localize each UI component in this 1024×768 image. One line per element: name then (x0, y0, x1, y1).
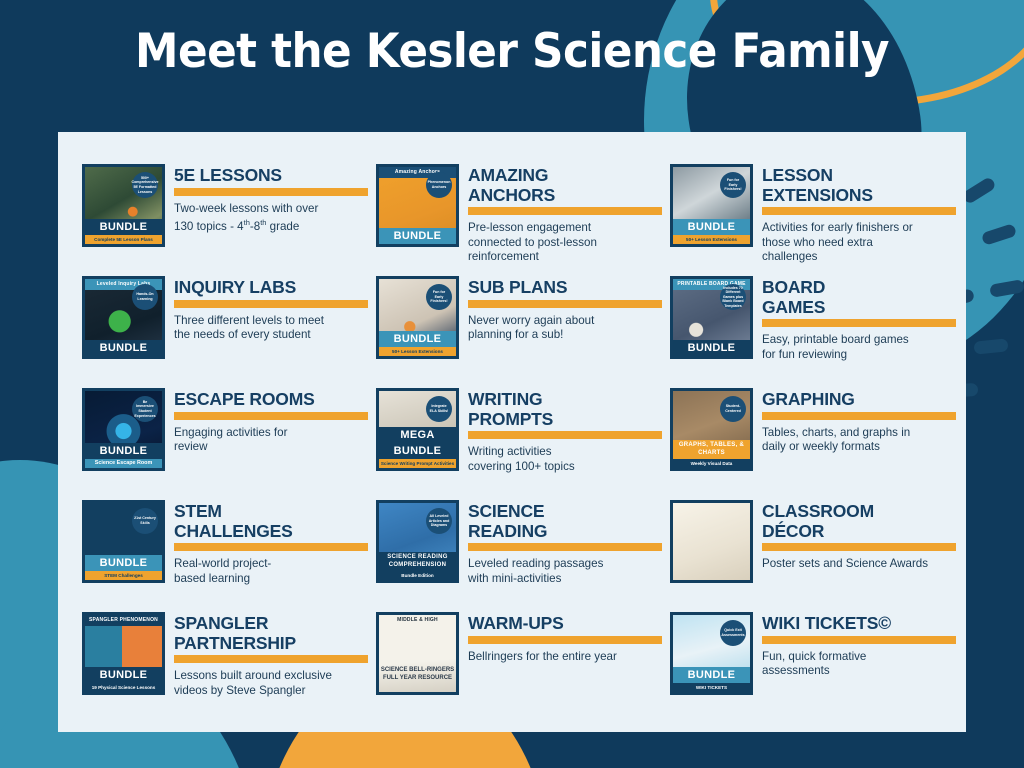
slide-canvas: Meet the Kesler Science Family 500+ Comp… (0, 0, 1024, 768)
product-thumbnail[interactable]: PRINTABLE BOARD GAMEIncludes 70 Differen… (670, 276, 753, 359)
thumbnail-badge: Student-Centered (720, 396, 746, 422)
product-title: WARM-UPS (468, 614, 662, 634)
thumbnail-sub-strip: Bundle Edition (379, 571, 456, 580)
product-text-block: WARM-UPSBellringers for the entire year (468, 612, 662, 664)
orange-divider-rule (762, 636, 956, 644)
product-description: Bellringers for the entire year (468, 650, 662, 665)
thumbnail-sub-strip: WIKI TICKETS (673, 683, 750, 692)
product-text-block: ESCAPE ROOMSEngaging activities for revi… (174, 388, 368, 455)
product-description: Pre-lesson engagement connected to post-… (468, 221, 662, 265)
product-card[interactable]: Be Immersive Student ExperiencesScience … (82, 382, 368, 494)
thumbnail-sub-strip: Weekly Visual Data (673, 459, 750, 468)
thumbnail-badge: Hands-On Learning (132, 284, 158, 310)
product-text-block: AMAZING ANCHORSPre-lesson engagement con… (468, 164, 662, 265)
thumbnail-bundle-label: SCIENCE READING COMPREHENSION (379, 552, 456, 571)
thumbnail-badge: All Leveled Articles and Diagrams (426, 508, 452, 534)
product-description: Fun, quick formative assessments (762, 650, 956, 679)
thumbnail-bundle-label: BUNDLE (85, 667, 162, 683)
product-description: Three different levels to meet the needs… (174, 314, 368, 343)
orange-divider-rule (762, 207, 956, 215)
product-card[interactable]: 21st Century SkillsSTEM ChallengesBUNDLE… (82, 494, 368, 606)
product-thumbnail[interactable]: Student-CenteredWeekly Visual DataGRAPHS… (670, 388, 753, 471)
product-text-block: GRAPHINGTables, charts, and graphs in da… (762, 388, 956, 455)
product-description: Activities for early finishers or those … (762, 221, 956, 265)
product-thumbnail[interactable]: Integrate ELA Skills!Science Writing Pro… (376, 388, 459, 471)
product-card[interactable]: Amazing AnchorsPhenomenon AnchorsBUNDLEA… (376, 158, 662, 270)
product-card[interactable]: Student-CenteredWeekly Visual DataGRAPHS… (670, 382, 956, 494)
thumbnail-top-label: MIDDLE & HIGH (379, 615, 456, 626)
product-title: BOARD GAMES (762, 278, 956, 317)
product-thumbnail[interactable]: Amazing AnchorsPhenomenon AnchorsBUNDLE (376, 164, 459, 247)
orange-divider-rule (468, 300, 662, 308)
product-card[interactable]: Integrate ELA Skills!Science Writing Pro… (376, 382, 662, 494)
thumbnail-top-label: SPANGLER PHENOMENON (85, 615, 162, 626)
orange-divider-rule (174, 543, 368, 551)
product-title: SPANGLER PARTNERSHIP (174, 614, 368, 653)
product-description: Real-world project- based learning (174, 557, 368, 586)
product-title: WRITING PROMPTS (468, 390, 662, 429)
orange-divider-rule (468, 543, 662, 551)
thumbnail-sub-strip: SCIENCE BELL-RINGERS FULL YEAR RESOURCE (379, 666, 456, 692)
thumbnail-bundle-label: MEGA BUNDLE (379, 427, 456, 459)
product-card[interactable]: Fun for Early Finishers!50+ Lesson Exten… (376, 270, 662, 382)
product-thumbnail[interactable]: 500+ Comprehensive 5E Formatted LessonsC… (82, 164, 165, 247)
product-text-block: INQUIRY LABSThree different levels to me… (174, 276, 368, 343)
product-text-block: SCIENCE READINGLeveled reading passages … (468, 500, 662, 586)
thumbnail-sub-strip: Science Writing Prompt Activities (379, 459, 456, 468)
product-text-block: STEM CHALLENGESReal-world project- based… (174, 500, 368, 586)
thumbnail-badge: 500+ Comprehensive 5E Formatted Lessons (132, 172, 158, 198)
product-description: Writing activities covering 100+ topics (468, 445, 662, 474)
thumbnail-sub-strip: 50+ Lesson Extensions (673, 235, 750, 244)
product-thumbnail[interactable]: Fun for Early Finishers!50+ Lesson Exten… (670, 164, 753, 247)
page-title: Meet the Kesler Science Family (36, 24, 988, 79)
thumbnail-sub-strip: STEM Challenges (85, 571, 162, 580)
thumbnail-bundle-label: BUNDLE (673, 219, 750, 235)
thumbnail-bundle-label: BUNDLE (379, 331, 456, 347)
product-text-block: 5E LESSONSTwo-week lessons with over 130… (174, 164, 368, 235)
product-text-block: SUB PLANSNever worry again about plannin… (468, 276, 662, 343)
thumbnail-bundle-label: BUNDLE (85, 443, 162, 459)
orange-divider-rule (174, 300, 368, 308)
orange-divider-rule (174, 412, 368, 420)
product-card[interactable]: 500+ Comprehensive 5E Formatted LessonsC… (82, 158, 368, 270)
product-grid: 500+ Comprehensive 5E Formatted LessonsC… (82, 158, 956, 718)
product-thumbnail[interactable]: Fun for Early Finishers!50+ Lesson Exten… (376, 276, 459, 359)
orange-divider-rule (762, 412, 956, 420)
product-thumbnail[interactable]: Quick Exit AssessmentsWIKI TICKETSBUNDLE (670, 612, 753, 695)
product-text-block: WRITING PROMPTSWriting activities coveri… (468, 388, 662, 474)
product-description: Tables, charts, and graphs in daily or w… (762, 426, 956, 455)
thumbnail-badge: Phenomenon Anchors (426, 172, 452, 198)
thumbnail-bundle-label: BUNDLE (85, 555, 162, 571)
thumbnail-bundle-label: BUNDLE (673, 340, 750, 356)
navy-left-band-decoration (0, 360, 40, 620)
product-card[interactable]: MIDDLE & HIGHSCIENCE BELL-RINGERS FULL Y… (376, 606, 662, 718)
orange-divider-rule (174, 188, 368, 196)
orange-divider-rule (468, 431, 662, 439)
product-description: Engaging activities for review (174, 426, 368, 455)
thumbnail-bundle-label: BUNDLE (379, 228, 456, 244)
product-text-block: CLASSROOM DÉCORPoster sets and Science A… (762, 500, 956, 572)
product-description: Poster sets and Science Awards (762, 557, 956, 572)
product-title: STEM CHALLENGES (174, 502, 368, 541)
product-description: Easy, printable board games for fun revi… (762, 333, 956, 362)
thumbnail-artwork (673, 503, 750, 580)
product-title: CLASSROOM DÉCOR (762, 502, 956, 541)
product-description: Two-week lessons with over 130 topics - … (174, 202, 368, 235)
product-title: SCIENCE READING (468, 502, 662, 541)
thumbnail-sub-strip: 19 Physical Science Lessons (85, 683, 162, 692)
orange-divider-rule (468, 636, 662, 644)
thumbnail-badge: Includes 70 Different Games plus Blank B… (720, 284, 746, 310)
thumbnail-sub-strip: Complete 5E Lesson Plans (85, 235, 162, 244)
orange-divider-rule (174, 655, 368, 663)
product-text-block: BOARD GAMESEasy, printable board games f… (762, 276, 956, 362)
product-card[interactable]: SPANGLER PHENOMENON19 Physical Science L… (82, 606, 368, 718)
orange-divider-rule (468, 207, 662, 215)
product-title: GRAPHING (762, 390, 956, 410)
product-card[interactable]: CLASSROOM DÉCORPoster sets and Science A… (670, 494, 956, 606)
product-title: 5E LESSONS (174, 166, 368, 186)
thumbnail-badge: Fun for Early Finishers! (720, 172, 746, 198)
product-description: Leveled reading passages with mini-activ… (468, 557, 662, 586)
product-description: Lessons built around exclusive videos by… (174, 669, 368, 698)
product-thumbnail[interactable]: Leveled Inquiry LabsHands-On LearningBUN… (82, 276, 165, 359)
thumbnail-badge: Quick Exit Assessments (720, 620, 746, 646)
product-card[interactable]: All Leveled Articles and DiagramsBundle … (376, 494, 662, 606)
thumbnail-badge: 21st Century Skills (132, 508, 158, 534)
product-title: ESCAPE ROOMS (174, 390, 368, 410)
product-title: INQUIRY LABS (174, 278, 368, 298)
thumbnail-bundle-label: BUNDLE (673, 667, 750, 683)
product-text-block: LESSON EXTENSIONSActivities for early fi… (762, 164, 956, 265)
product-thumbnail[interactable]: All Leveled Articles and DiagramsBundle … (376, 500, 459, 583)
thumbnail-sub-strip: Science Escape Room (85, 459, 162, 468)
thumbnail-bundle-label: GRAPHS, TABLES, & CHARTS (673, 440, 750, 459)
product-thumbnail[interactable]: SPANGLER PHENOMENON19 Physical Science L… (82, 612, 165, 695)
product-title: LESSON EXTENSIONS (762, 166, 956, 205)
thumbnail-bundle-label: BUNDLE (85, 219, 162, 235)
product-thumbnail[interactable]: 21st Century SkillsSTEM ChallengesBUNDLE (82, 500, 165, 583)
product-thumbnail[interactable] (670, 500, 753, 583)
orange-divider-rule (762, 319, 956, 327)
product-card[interactable]: Leveled Inquiry LabsHands-On LearningBUN… (82, 270, 368, 382)
thumbnail-sub-strip: 50+ Lesson Extensions (379, 347, 456, 356)
product-thumbnail[interactable]: MIDDLE & HIGHSCIENCE BELL-RINGERS FULL Y… (376, 612, 459, 695)
product-title: WIKI TICKETS© (762, 614, 956, 634)
product-title: SUB PLANS (468, 278, 662, 298)
product-thumbnail[interactable]: Be Immersive Student ExperiencesScience … (82, 388, 165, 471)
product-card[interactable]: Fun for Early Finishers!50+ Lesson Exten… (670, 158, 956, 270)
product-card[interactable]: PRINTABLE BOARD GAMEIncludes 70 Differen… (670, 270, 956, 382)
product-text-block: SPANGLER PARTNERSHIPLessons built around… (174, 612, 368, 698)
thumbnail-badge: Integrate ELA Skills! (426, 396, 452, 422)
product-text-block: WIKI TICKETS©Fun, quick formative assess… (762, 612, 956, 679)
thumbnail-badge: Fun for Early Finishers! (426, 284, 452, 310)
content-panel: 500+ Comprehensive 5E Formatted LessonsC… (58, 132, 966, 732)
product-title: AMAZING ANCHORS (468, 166, 662, 205)
thumbnail-badge: Be Immersive Student Experiences (132, 396, 158, 422)
product-description: Never worry again about planning for a s… (468, 314, 662, 343)
thumbnail-bundle-label: BUNDLE (85, 340, 162, 356)
orange-divider-rule (762, 543, 956, 551)
product-card[interactable]: Quick Exit AssessmentsWIKI TICKETSBUNDLE… (670, 606, 956, 718)
